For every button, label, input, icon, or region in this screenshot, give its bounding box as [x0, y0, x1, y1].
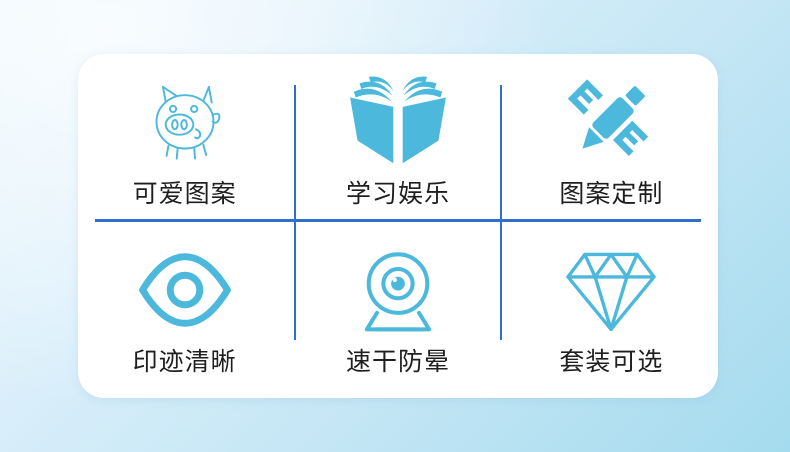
- feature-cell-custom[interactable]: 图案定制: [505, 54, 718, 226]
- eye-icon: [137, 242, 233, 338]
- page-background: 可爱图案: [0, 0, 790, 452]
- divider-horizontal: [95, 219, 701, 222]
- feature-card: 可爱图案: [78, 54, 718, 398]
- feature-cell-webcam[interactable]: 速干防晕: [291, 226, 504, 398]
- feature-cell-book[interactable]: 学习娱乐: [291, 54, 504, 226]
- feature-grid: 可爱图案: [78, 54, 718, 398]
- divider-vertical-left: [294, 85, 296, 340]
- feature-label: 学习娱乐: [346, 182, 450, 207]
- webcam-icon: [354, 242, 442, 338]
- feature-label: 印迹清晰: [133, 350, 237, 375]
- feature-label: 可爱图案: [133, 182, 237, 207]
- feature-label: 速干防晕: [346, 350, 450, 375]
- feature-cell-eye[interactable]: 印迹清晰: [78, 226, 291, 398]
- marker-pen-icon: [564, 68, 658, 172]
- open-book-icon: [346, 68, 450, 172]
- feature-label: 图案定制: [559, 182, 663, 207]
- feature-label: 套装可选: [559, 350, 663, 375]
- feature-cell-diamond[interactable]: 套装可选: [505, 226, 718, 398]
- diamond-icon: [564, 242, 658, 338]
- pig-icon: [139, 68, 231, 172]
- feature-cell-pig[interactable]: 可爱图案: [78, 54, 291, 226]
- divider-vertical-right: [500, 85, 502, 340]
